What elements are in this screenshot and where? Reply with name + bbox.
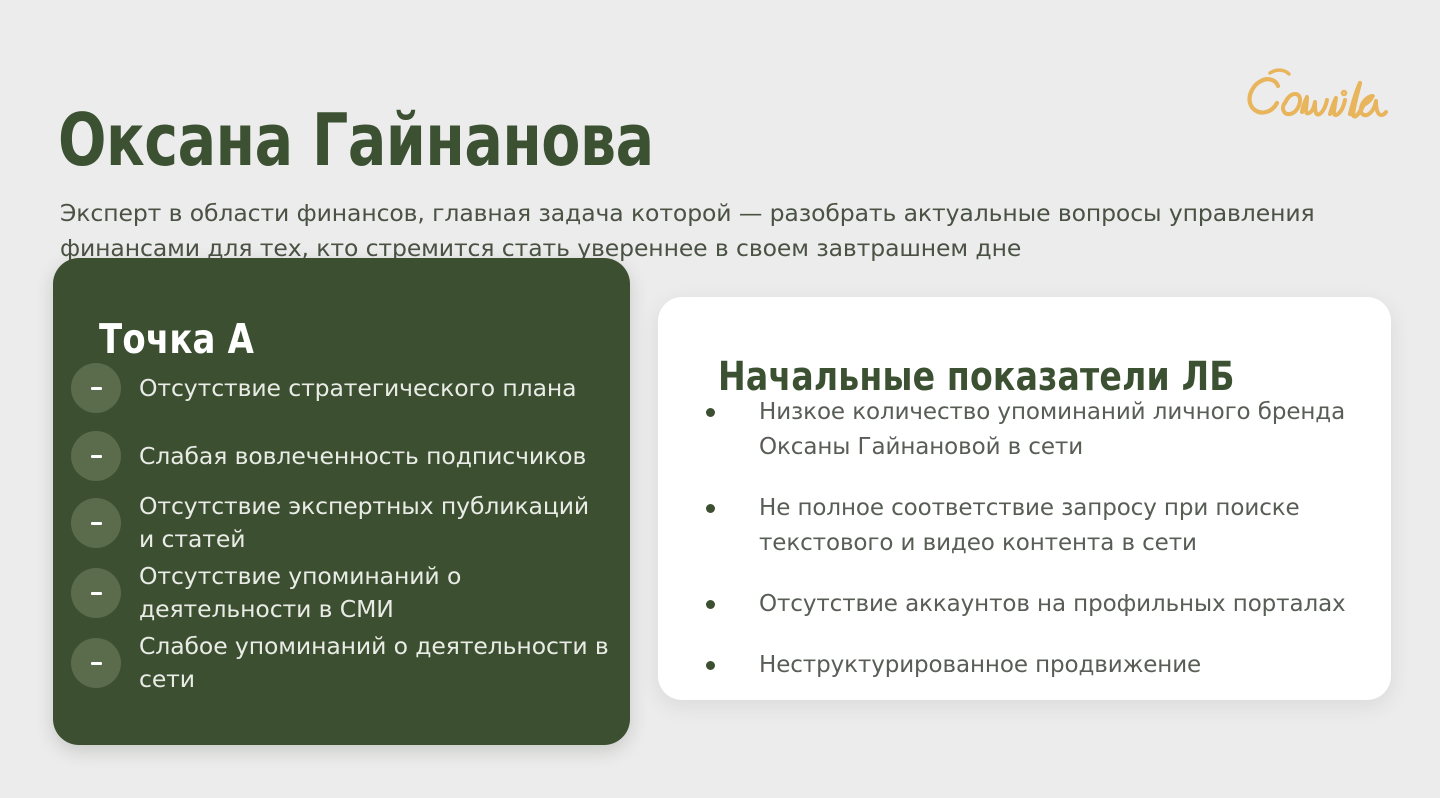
list-item: Не полное соответствие запросу при поиск… xyxy=(694,491,1369,561)
list-item-label: Слабая вовлеченность подписчиков xyxy=(139,440,586,473)
list-item-label: Отсутствие аккаунтов на профильных порта… xyxy=(759,587,1346,622)
list-item: Отсутствие упоминаний о деятельности в С… xyxy=(71,560,616,626)
list-item-label: Отсутствие экспертных публикаций и стате… xyxy=(139,490,609,556)
list-item-label: Слабое упоминаний о деятельности в сети xyxy=(139,630,609,696)
brand-logo xyxy=(1240,62,1400,134)
dot-bullet-icon xyxy=(706,408,715,417)
list-item-label: Отсутствие стратегического плана xyxy=(139,372,576,405)
page-subtitle: Эксперт в области финансов, главная зада… xyxy=(60,196,1380,266)
page-title: Оксана Гайнанова xyxy=(58,100,654,180)
dot-bullet-icon xyxy=(706,661,715,670)
presentation-slide: Оксана Гайнанова Эксперт в области финан… xyxy=(0,0,1440,798)
card-nachalnye-pokazateli-list: Низкое количество упоминаний личного бре… xyxy=(694,395,1369,683)
dash-bullet-icon xyxy=(71,498,121,548)
list-item-label: Низкое количество упоминаний личного бре… xyxy=(759,395,1369,465)
list-item: Отсутствие экспертных публикаций и стате… xyxy=(71,490,616,556)
card-tochka-a-list: Отсутствие стратегического плана Слабая … xyxy=(71,362,616,698)
list-item-label: Не полное соответствие запросу при поиск… xyxy=(759,491,1369,561)
dash-bullet-icon xyxy=(71,431,121,481)
list-item: Слабая вовлеченность подписчиков xyxy=(71,430,616,482)
dot-bullet-icon xyxy=(706,504,715,513)
list-item: Отсутствие аккаунтов на профильных порта… xyxy=(694,587,1369,622)
list-item: Низкое количество упоминаний личного бре… xyxy=(694,395,1369,465)
list-item: Неструктурированное продвижение xyxy=(694,648,1369,683)
card-nachalnye-pokazateli: Начальные показатели ЛБ Низкое количеств… xyxy=(658,297,1391,700)
dash-bullet-icon xyxy=(71,363,121,413)
dash-bullet-icon xyxy=(71,568,121,618)
list-item-label: Отсутствие упоминаний о деятельности в С… xyxy=(139,560,609,626)
list-item-label: Неструктурированное продвижение xyxy=(759,648,1201,683)
list-item: Слабое упоминаний о деятельности в сети xyxy=(71,630,616,696)
card-tochka-a-title: Точка А xyxy=(99,314,254,364)
list-item: Отсутствие стратегического плана xyxy=(71,362,616,414)
dot-bullet-icon xyxy=(706,600,715,609)
card-tochka-a: Точка А Отсутствие стратегического плана… xyxy=(53,258,630,745)
dash-bullet-icon xyxy=(71,638,121,688)
